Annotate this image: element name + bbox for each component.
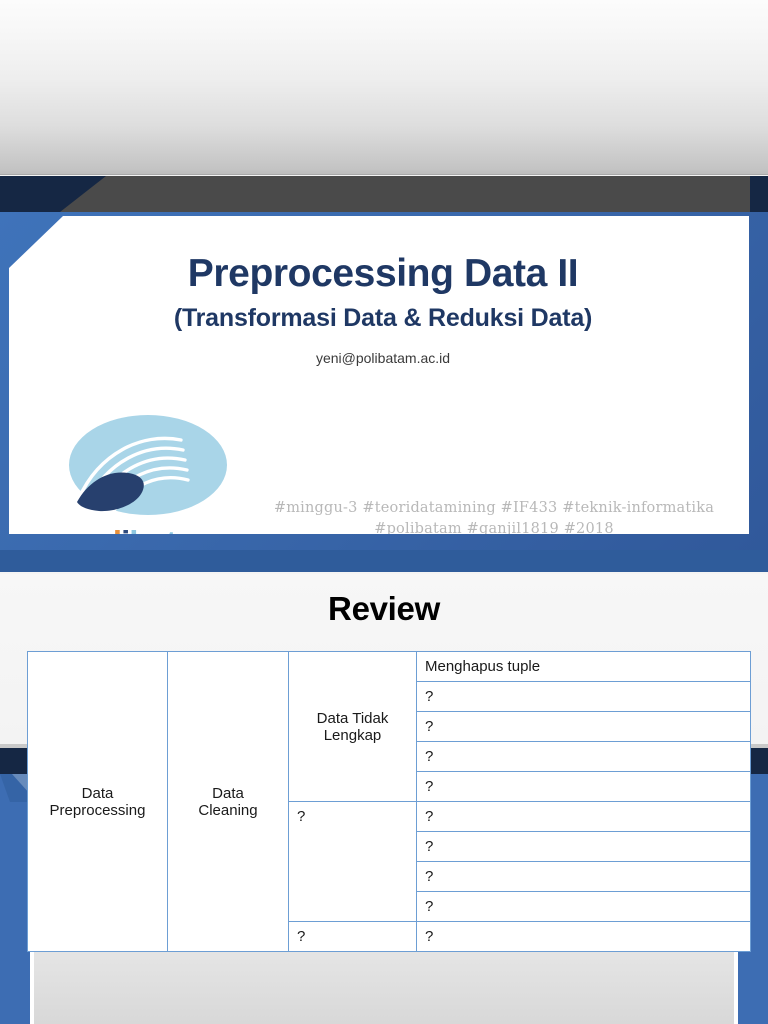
table-cell-data-cleaning: Data Cleaning bbox=[168, 652, 289, 952]
review-slide: Review bbox=[0, 574, 768, 1024]
title-slide-navy-corner-right bbox=[750, 176, 768, 212]
table-row: Data Preprocessing Data Cleaning Data Ti… bbox=[28, 652, 751, 682]
table-cell-group-label-0: Data Tidak Lengkap bbox=[289, 652, 417, 802]
previous-slide-tail bbox=[0, 0, 768, 175]
page-subtitle: (Transformasi Data & Reduksi Data) bbox=[63, 304, 703, 333]
table-cell-detail-2-0: ? bbox=[417, 922, 751, 952]
polibatam-logo-mark bbox=[55, 410, 241, 526]
table-cell-detail-1-0: ? bbox=[417, 802, 751, 832]
table-cell-group-label-2: ? bbox=[289, 922, 417, 952]
table-cell-group-label-1: ? bbox=[289, 802, 417, 922]
table-cell-data-preprocessing: Data Preprocessing bbox=[28, 652, 168, 952]
slide-deck-page: Preprocessing Data II (Transformasi Data… bbox=[0, 0, 768, 1024]
table-cell-detail-0-1: ? bbox=[417, 682, 751, 712]
table-cell-detail-0-3: ? bbox=[417, 742, 751, 772]
author-email: yeni@polibatam.ac.id bbox=[63, 350, 703, 366]
table-cell-detail-1-1: ? bbox=[417, 832, 751, 862]
hashtag-list: #minggu-3 #teoridatamining #IF433 #tekni… bbox=[239, 498, 749, 540]
title-slide-gray-band bbox=[0, 176, 750, 212]
page-title: Preprocessing Data II bbox=[63, 254, 703, 293]
table-cell-detail-0-2: ? bbox=[417, 712, 751, 742]
title-slide-white-card: Preprocessing Data II (Transformasi Data… bbox=[9, 216, 749, 534]
table-cell-detail-0-4: ? bbox=[417, 772, 751, 802]
table-cell-detail-0-0: Menghapus tuple bbox=[417, 652, 751, 682]
review-heading: Review bbox=[0, 590, 768, 628]
title-slide-bottom-bar bbox=[0, 550, 768, 572]
table-cell-detail-1-3: ? bbox=[417, 892, 751, 922]
table-cell-detail-1-2: ? bbox=[417, 862, 751, 892]
review-table: Data Preprocessing Data Cleaning Data Ti… bbox=[27, 651, 751, 952]
title-slide: Preprocessing Data II (Transformasi Data… bbox=[0, 176, 768, 572]
